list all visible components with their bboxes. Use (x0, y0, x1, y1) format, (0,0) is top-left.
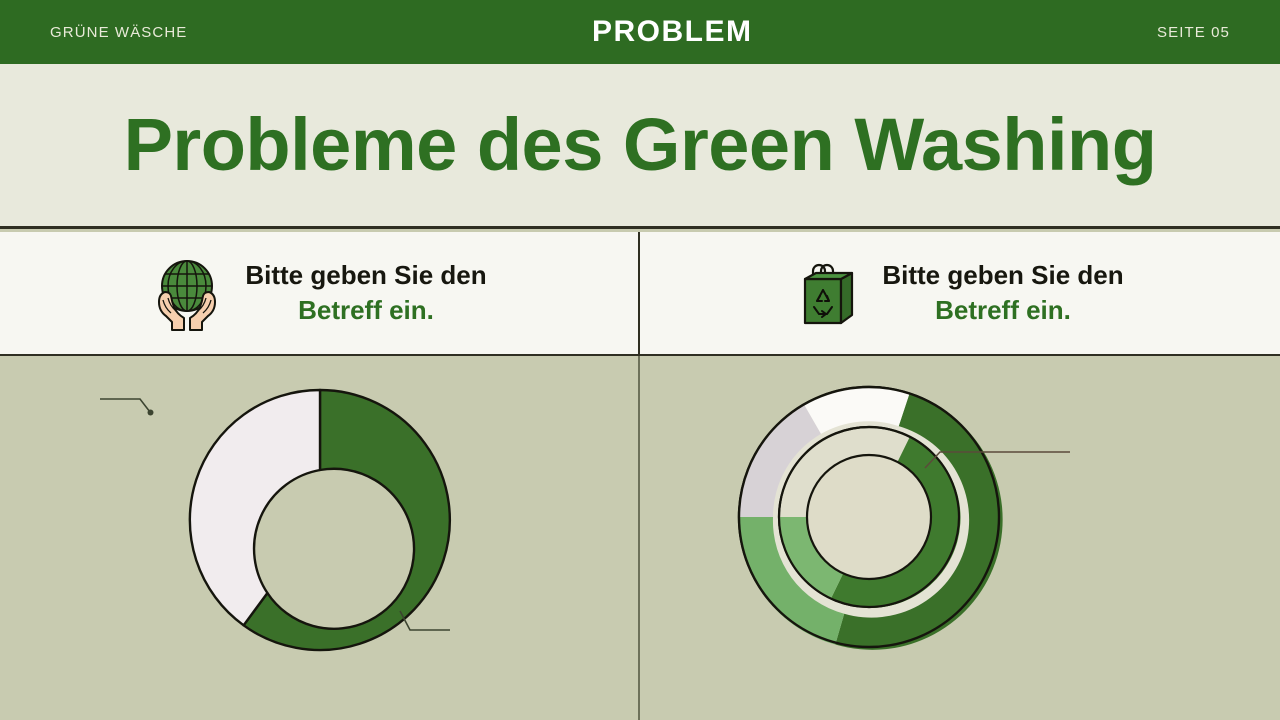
charts-row: Text 15% 85% Ja Nein (0, 356, 1280, 720)
right-inner-hole (807, 455, 931, 579)
panel-header-left: Bitte geben Sie den Betreff ein. (0, 232, 640, 354)
left-chart-panel: Text 15% 85% Ja Nein (0, 356, 640, 720)
panel-left-heading-line1: Bitte geben Sie den (245, 260, 486, 290)
right-nested-donut-chart: Text (640, 356, 1280, 720)
right-chart-panel: Text 45% Bitte geben Sie eine kurze Besc… (640, 356, 1280, 720)
page-number-label: SEITE 05 (1157, 24, 1230, 41)
top-bar: GRÜNE WÄSCHE PROBLEM SEITE 05 (0, 0, 1280, 64)
leader-dot-15 (148, 410, 154, 416)
panel-right-heading-line2: Betreff ein. (882, 293, 1123, 328)
page-title: Probleme des Green Washing (124, 108, 1157, 182)
panel-left-heading-line2: Betreff ein. (245, 293, 486, 328)
section-title: PROBLEM (187, 15, 1157, 49)
brand-label: GRÜNE WÄSCHE (50, 24, 187, 41)
subject-header-row: Bitte geben Sie den Betreff ein. (0, 232, 1280, 356)
panel-left-heading: Bitte geben Sie den Betreff ein. (245, 258, 486, 328)
recycle-shopping-bag-icon (796, 257, 860, 329)
left-donut-chart: Text (0, 356, 638, 720)
panel-header-right: Bitte geben Sie den Betreff ein. (640, 232, 1280, 354)
left-slice-nein (190, 390, 320, 625)
panel-right-heading: Bitte geben Sie den Betreff ein. (882, 258, 1123, 328)
slide: GRÜNE WÄSCHE PROBLEM SEITE 05 Probleme d… (0, 0, 1280, 720)
panel-right-heading-line1: Bitte geben Sie den (882, 260, 1123, 290)
right-donut-svg (640, 356, 1280, 720)
leader-line-15 (100, 399, 150, 412)
left-donut-svg (0, 356, 640, 720)
title-band: Probleme des Green Washing (0, 64, 1280, 229)
globe-in-hands-icon (151, 256, 223, 330)
